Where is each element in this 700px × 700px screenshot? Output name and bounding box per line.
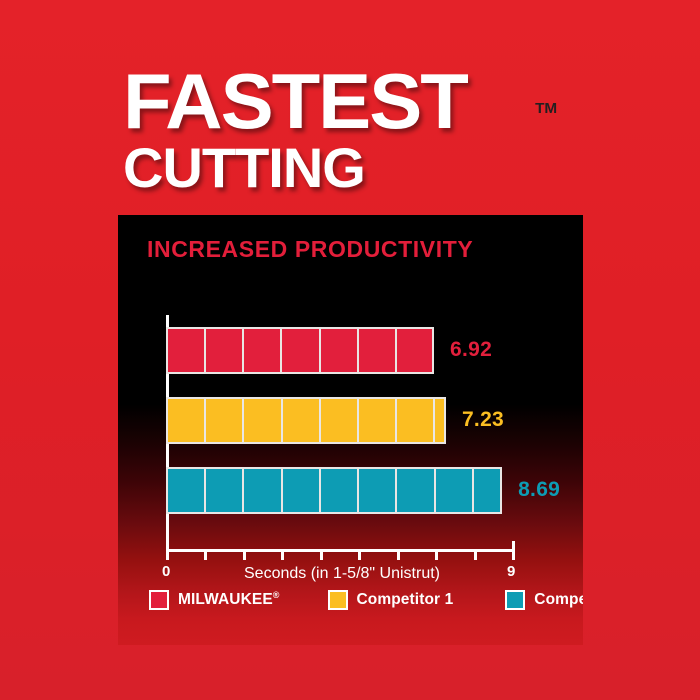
bar-value-label: 7.23	[462, 408, 504, 432]
x-axis-tick-1	[204, 549, 207, 560]
bar-segment	[436, 469, 474, 512]
bar-segment	[206, 329, 244, 372]
bar-segment	[206, 399, 244, 442]
legend-color-swatch	[505, 590, 525, 610]
bar	[166, 397, 446, 444]
legend-color-swatch	[149, 590, 169, 610]
bar-segment	[244, 399, 282, 442]
headline-block: FASTEST TM CUTTING	[123, 66, 643, 196]
poster-canvas: FASTEST TM CUTTING INCREASED PRODUCTIVIT…	[0, 0, 700, 700]
headline-primary-text: FASTEST	[123, 57, 467, 145]
bar-segment-partial	[435, 399, 444, 442]
legend-item[interactable]: Competitor 1	[328, 590, 454, 610]
bar-segment	[283, 399, 321, 442]
bar-segment	[321, 399, 359, 442]
x-axis-tick-9	[512, 541, 515, 560]
legend-item-label: Competitor 1	[357, 591, 454, 609]
bar-row: 7.23	[166, 397, 512, 444]
bar-segment	[244, 329, 282, 372]
chart-title: INCREASED PRODUCTIVITY	[147, 236, 473, 263]
bar-segment	[168, 469, 206, 512]
x-axis-line	[166, 549, 515, 552]
legend-item[interactable]: MILWAUKEE®	[149, 590, 280, 610]
legend-color-swatch	[328, 590, 348, 610]
x-axis-tick-5	[358, 549, 361, 560]
x-axis-tick-3	[281, 549, 284, 560]
legend-item[interactable]: Competitor 2	[505, 590, 583, 610]
x-axis-tick-7	[435, 549, 438, 560]
bar-segment	[397, 469, 435, 512]
bar-segment	[282, 329, 320, 372]
bar-segment	[321, 329, 359, 372]
x-axis-title: Seconds (in 1-5/8" Unistrut)	[166, 565, 518, 583]
bar-segment	[359, 399, 397, 442]
bar-segment	[321, 469, 359, 512]
bar	[166, 327, 434, 374]
bar-segment-partial	[474, 469, 500, 512]
legend-item-label: MILWAUKEE®	[178, 590, 280, 609]
bar-segment	[359, 469, 397, 512]
headline-secondary: CUTTING	[123, 140, 643, 196]
x-axis-tick-4	[320, 549, 323, 560]
headline-primary: FASTEST TM	[123, 66, 653, 138]
bar-row: 6.92	[166, 327, 512, 374]
bar-segment	[168, 399, 206, 442]
trademark-mark: TM	[535, 102, 557, 116]
bar-segment-partial	[397, 329, 432, 372]
legend-item-label: Competitor 2	[534, 591, 583, 609]
x-axis-tick-2	[243, 549, 246, 560]
bar-row: 8.69	[166, 467, 512, 514]
chart-legend: MILWAUKEE®Competitor 1Competitor 2	[149, 590, 569, 610]
bar-value-label: 8.69	[518, 478, 560, 502]
bar-segment	[168, 329, 206, 372]
bar-segment	[206, 469, 244, 512]
x-axis-tick-8	[474, 549, 477, 560]
x-axis-tick-6	[397, 549, 400, 560]
bar	[166, 467, 502, 514]
bar-value-label: 6.92	[450, 338, 492, 362]
bar-segment	[283, 469, 321, 512]
x-axis-tick-0	[166, 541, 169, 560]
chart-panel: INCREASED PRODUCTIVITY 6.927.238.69 0 9 …	[118, 215, 583, 645]
bar-segment	[397, 399, 435, 442]
bar-segment	[244, 469, 282, 512]
registered-mark: ®	[273, 590, 280, 600]
bar-segment	[359, 329, 397, 372]
